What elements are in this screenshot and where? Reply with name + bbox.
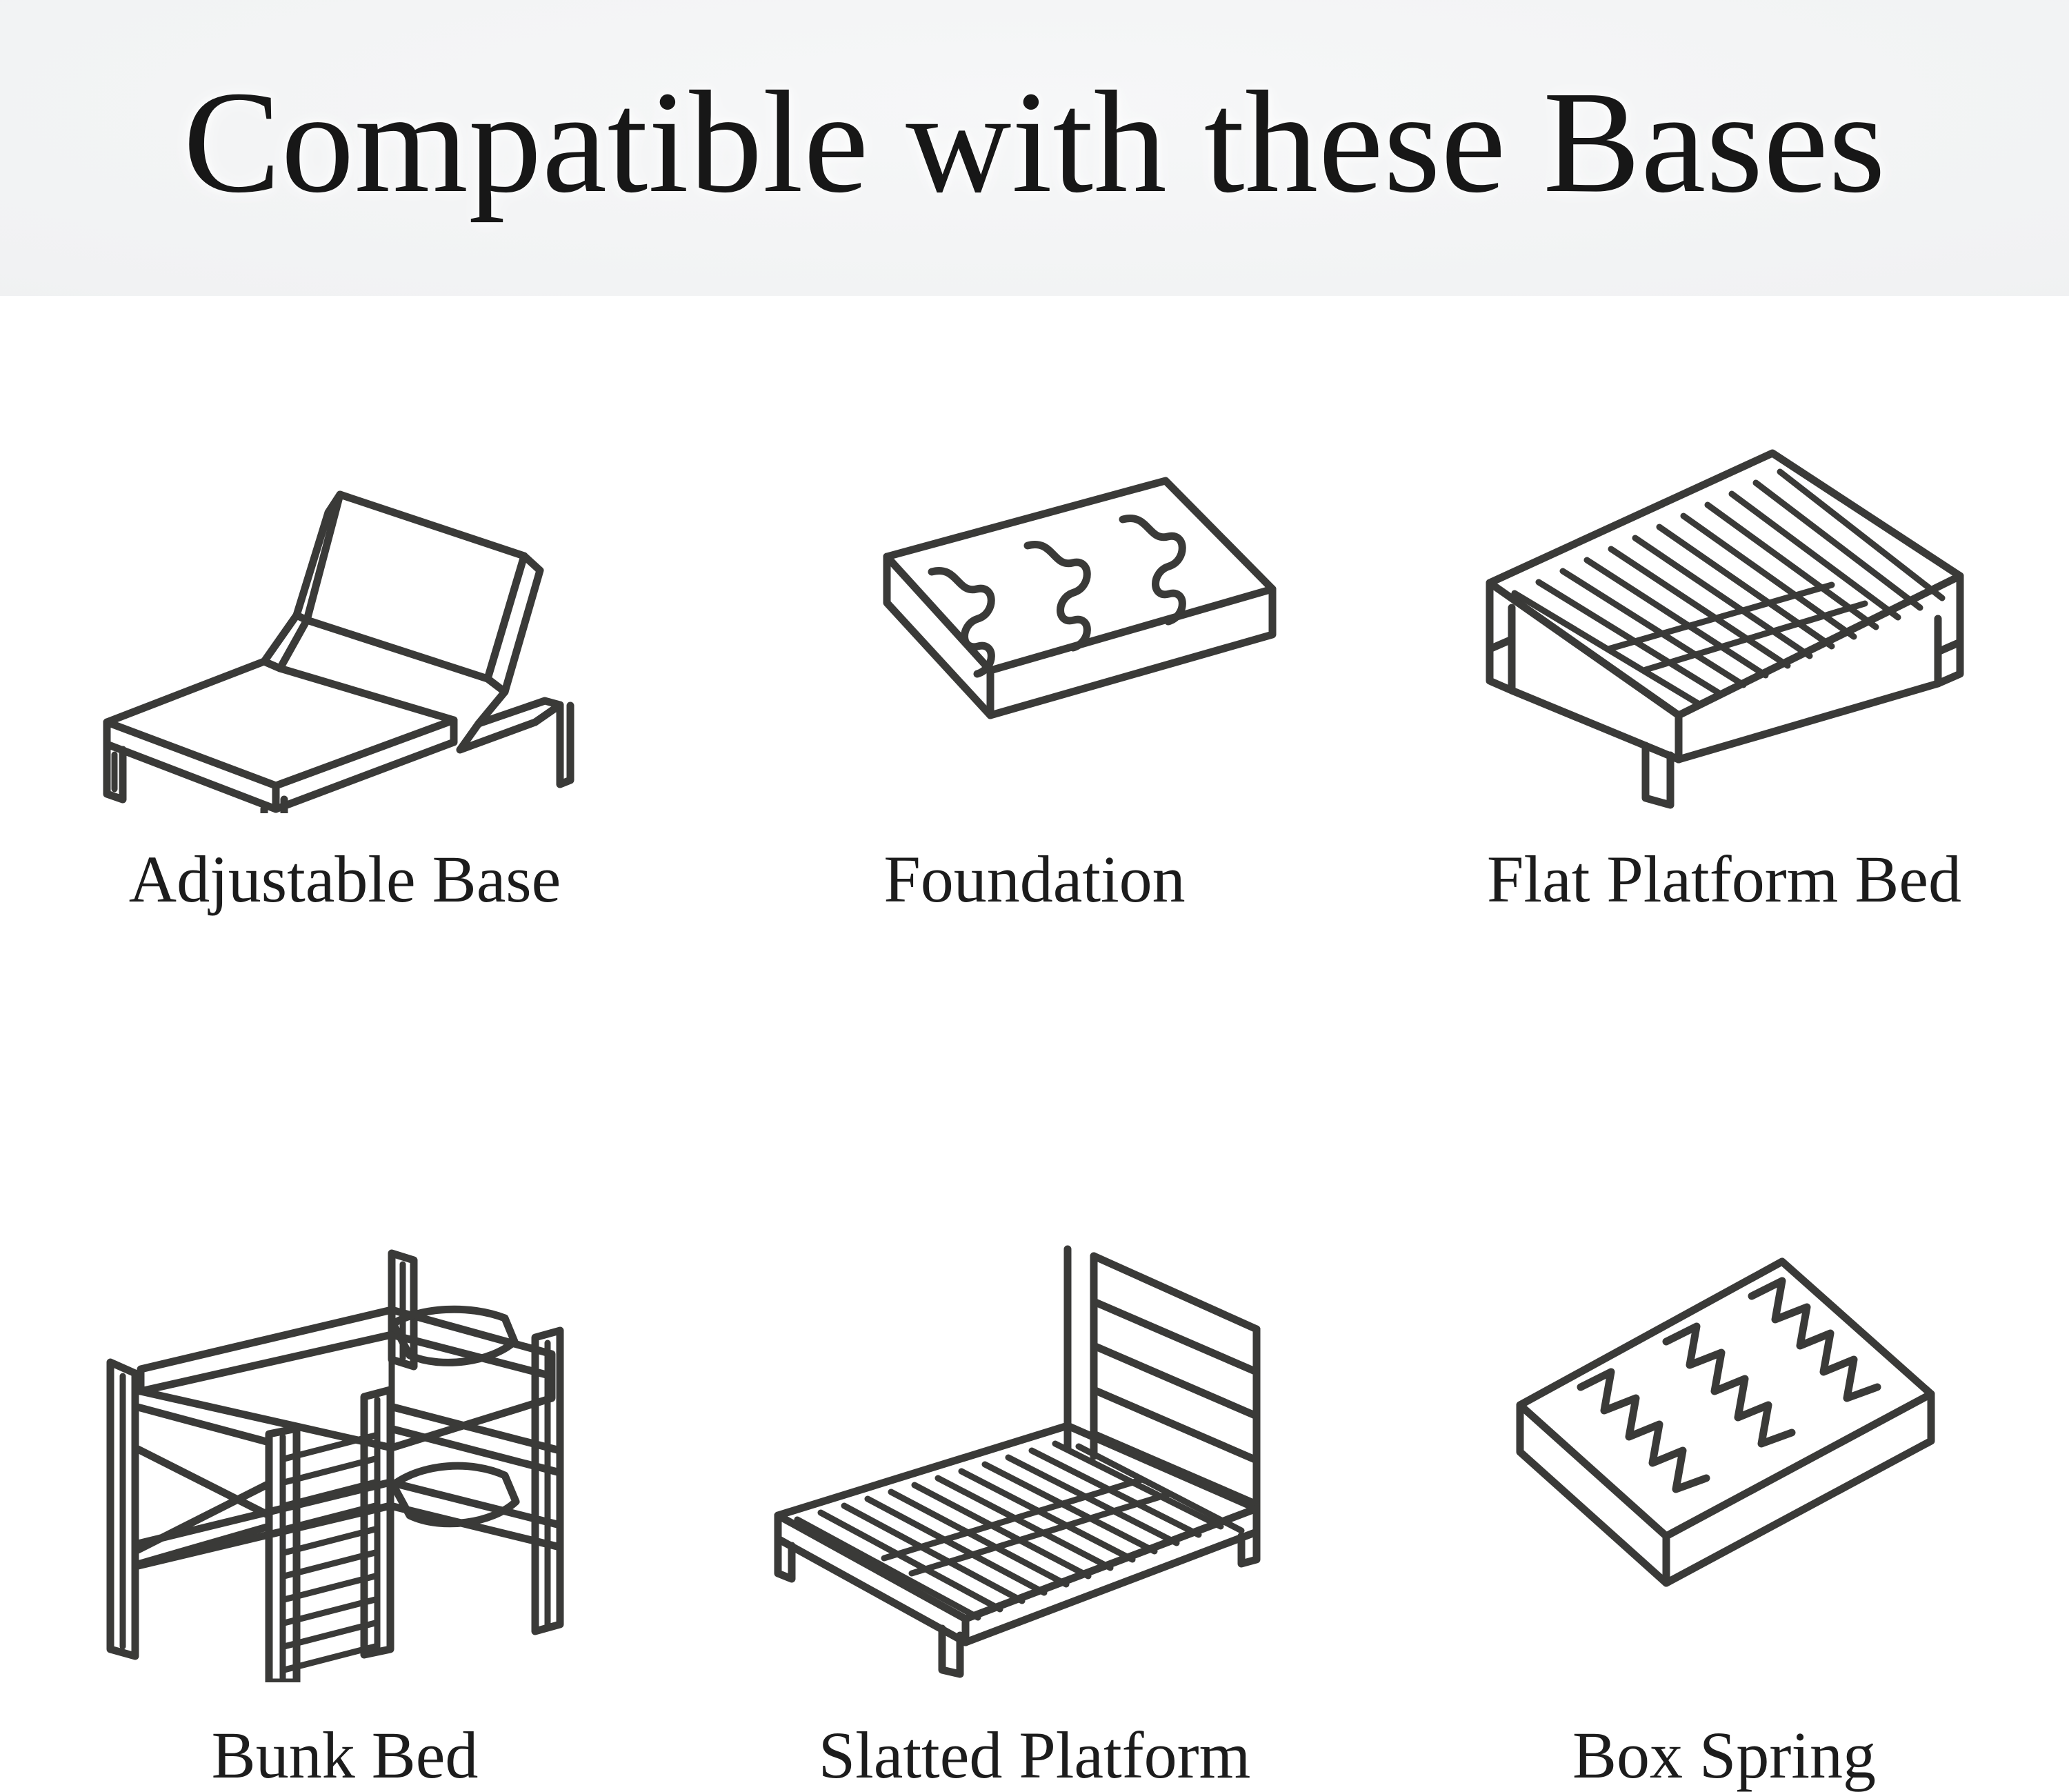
slatted-platform-icon-wrap (759, 1241, 1310, 1682)
base-label-adjustable-base: Adjustable Base (129, 845, 561, 915)
box-spring-icon (1448, 1241, 2000, 1682)
compatible-bases-grid: Adjustable Base Foundation (0, 296, 2069, 1791)
flat-platform-bed-icon (1448, 441, 2000, 813)
header-banner: Compatible with these Bases (0, 0, 2069, 296)
foundation-icon-wrap (759, 441, 1310, 813)
base-label-box-spring: Box Spring (1572, 1721, 1876, 1791)
base-card-slatted-platform[interactable]: Slatted Platform (690, 944, 1379, 1791)
slatted-platform-icon (759, 1241, 1310, 1682)
base-label-flat-platform-bed: Flat Platform Bed (1487, 845, 1961, 915)
bunk-bed-icon-wrap (69, 1241, 621, 1682)
adjustable-base-icon-wrap (69, 441, 621, 813)
base-label-foundation: Foundation (883, 845, 1185, 915)
base-card-box-spring[interactable]: Box Spring (1379, 944, 2069, 1791)
foundation-icon (759, 441, 1310, 813)
base-card-adjustable-base[interactable]: Adjustable Base (0, 296, 690, 944)
adjustable-base-icon (69, 441, 621, 813)
box-spring-icon-wrap (1448, 1241, 2000, 1682)
base-card-bunk-bed[interactable]: Bunk Bed (0, 944, 690, 1791)
base-card-foundation[interactable]: Foundation (690, 296, 1379, 944)
bunk-bed-icon (69, 1241, 621, 1682)
base-card-flat-platform-bed[interactable]: Flat Platform Bed (1379, 296, 2069, 944)
page-title: Compatible with these Bases (183, 69, 1886, 215)
base-label-slatted-platform: Slatted Platform (819, 1721, 1251, 1791)
flat-platform-bed-icon-wrap (1448, 441, 2000, 813)
base-label-bunk-bed: Bunk Bed (212, 1721, 479, 1791)
